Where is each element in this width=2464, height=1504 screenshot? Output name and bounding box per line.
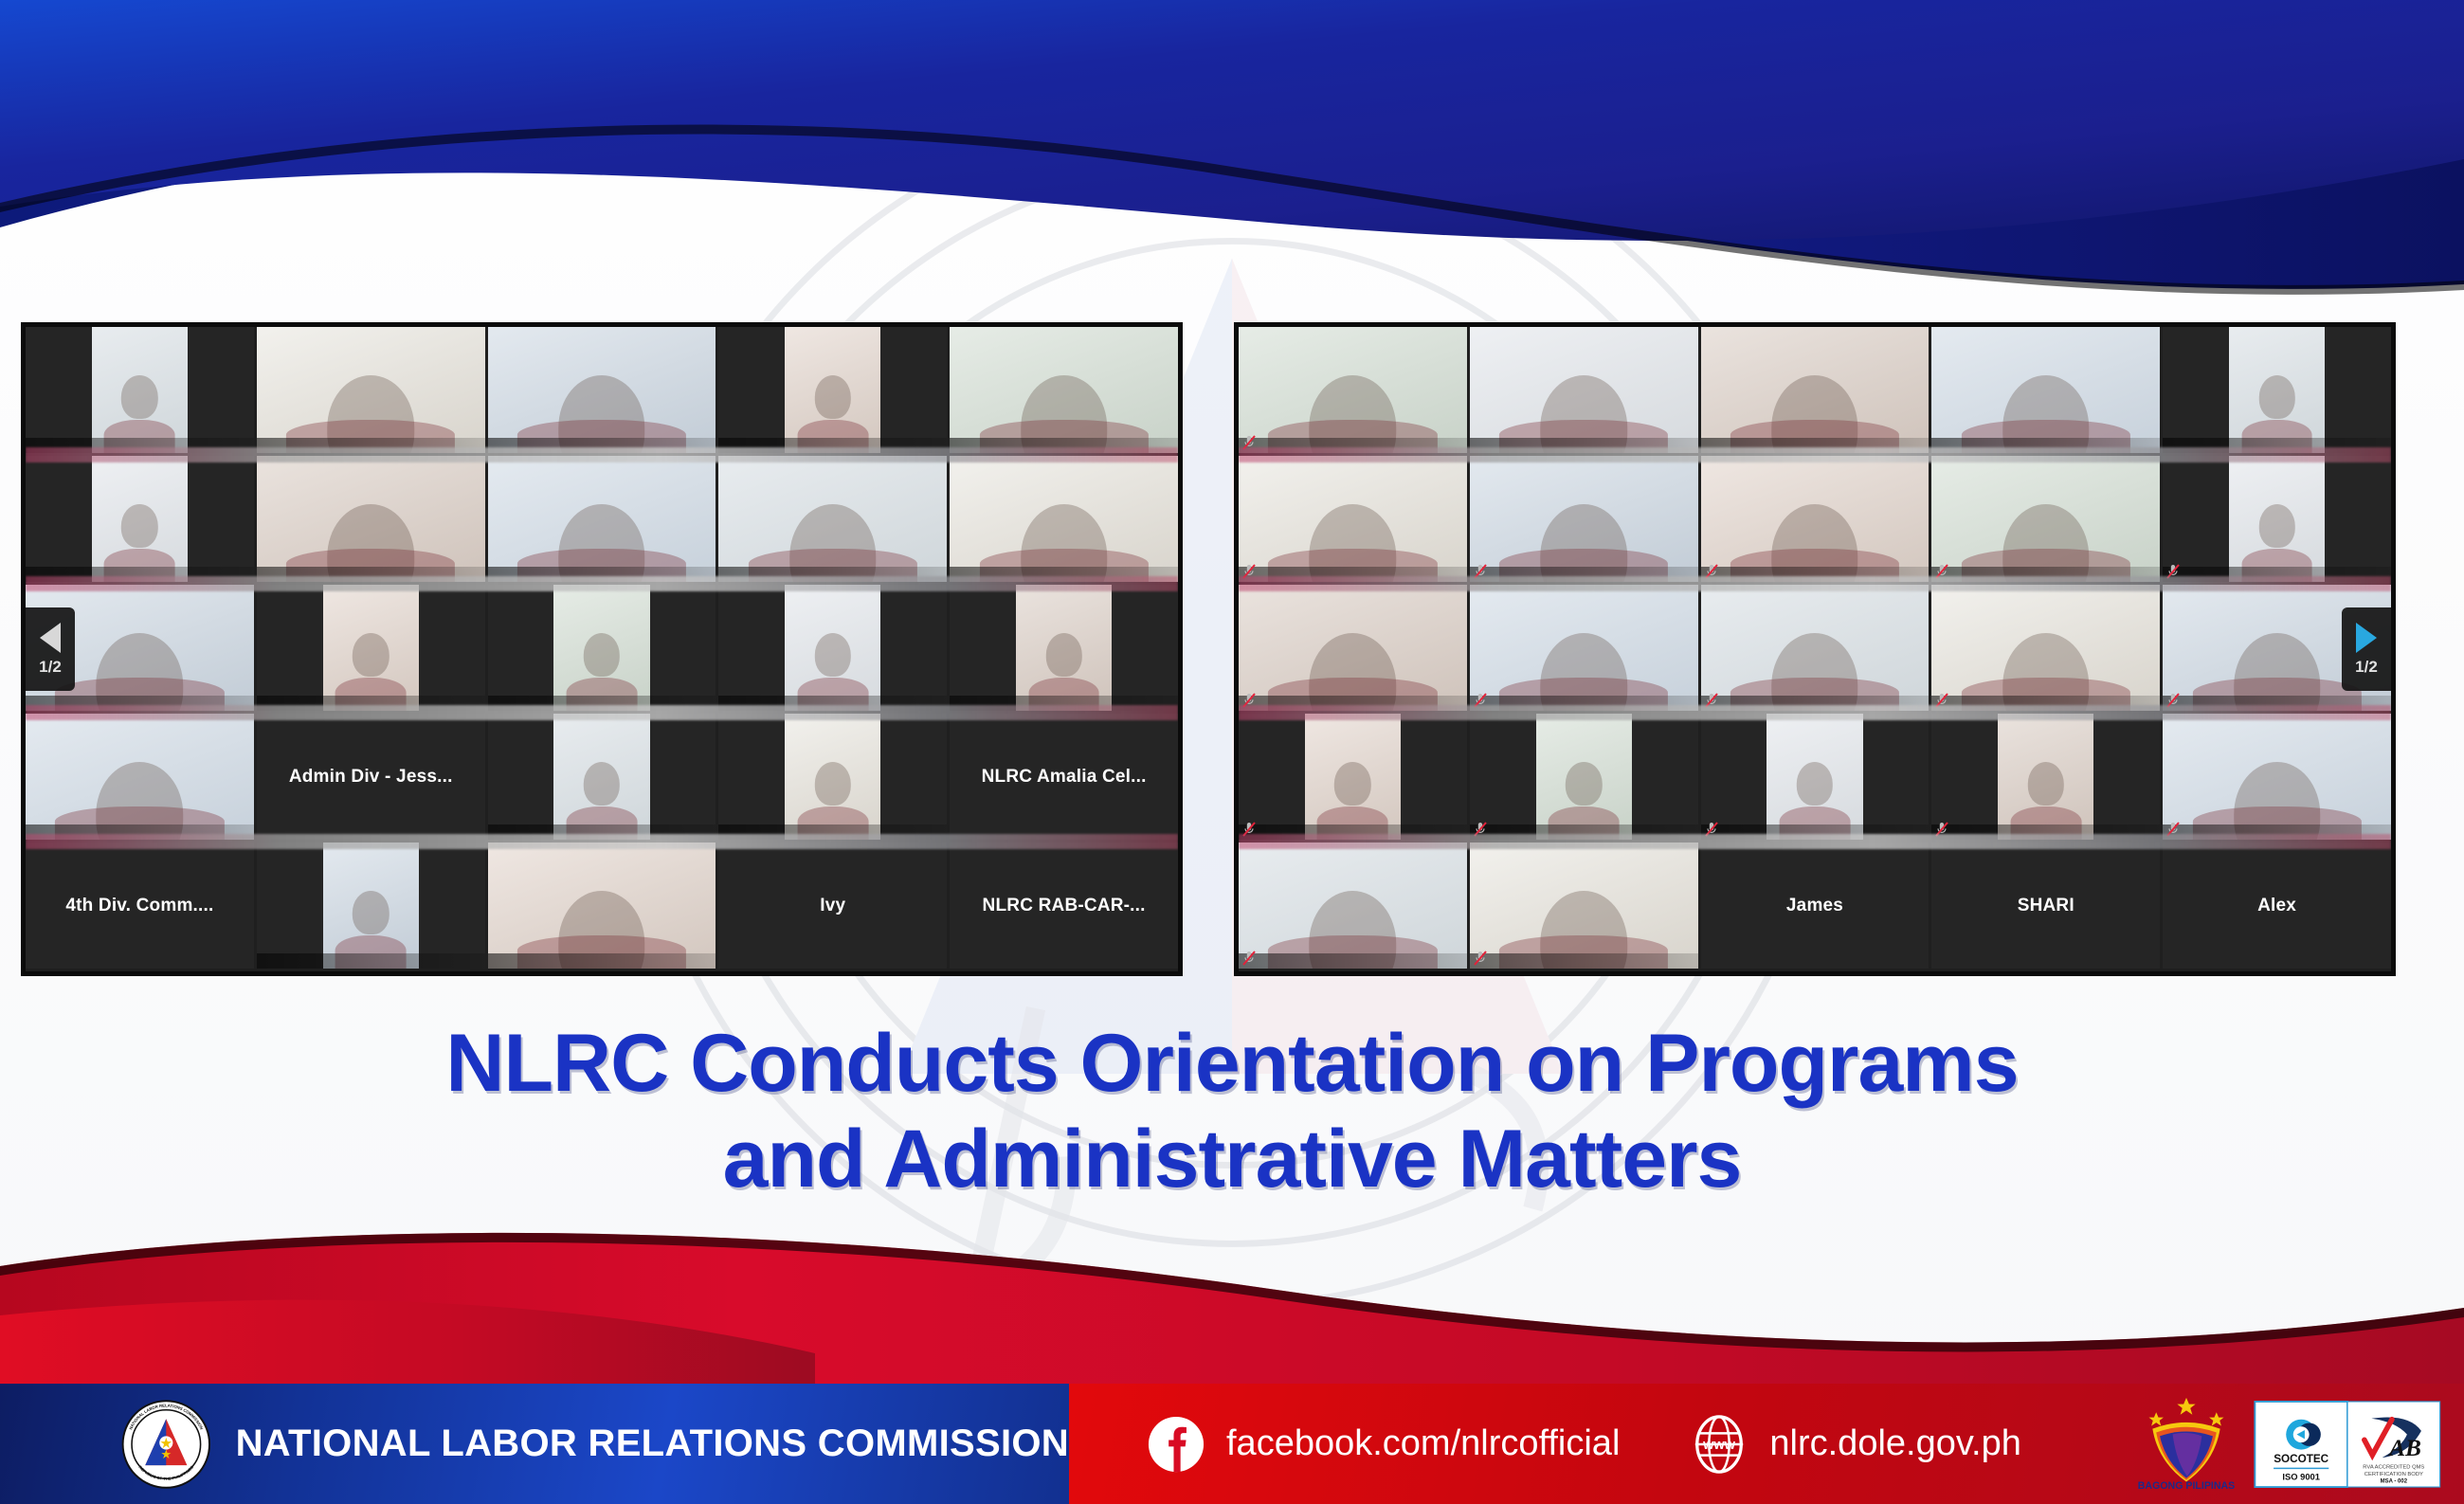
participant-video — [1016, 585, 1112, 711]
tile-name-bar — [488, 438, 716, 453]
participant-video — [1766, 714, 1862, 840]
tile-name-bar — [718, 438, 947, 453]
participant-video — [1305, 714, 1401, 840]
participant-tile[interactable] — [1470, 456, 1698, 582]
participant-tile[interactable] — [26, 327, 254, 453]
participant-video — [553, 714, 649, 840]
participant-tile[interactable] — [1701, 327, 1930, 453]
tile-name-bar — [488, 696, 716, 711]
participant-silhouette — [1045, 633, 1081, 678]
certification-logos: SOCOTEC ISO 9001 AB RVA ACCREDITED QMS C… — [2254, 1401, 2441, 1488]
participant-tile[interactable] — [257, 843, 485, 969]
participant-video — [488, 327, 716, 453]
gallery-row: JamesSHARIAlex — [1239, 843, 2391, 971]
participant-tile[interactable] — [1470, 327, 1698, 453]
page-title-line-1: NLRC Conducts Orientation on Programs — [445, 1018, 2018, 1109]
participant-silhouette — [353, 891, 389, 935]
bagong-pilipinas-icon: BAGONG PILIPINAS — [2136, 1394, 2237, 1495]
svg-text:ISO 9001: ISO 9001 — [2282, 1472, 2320, 1481]
participant-silhouette — [121, 504, 157, 549]
participant-name: NLRC RAB-CAR-... — [950, 896, 1178, 916]
participant-silhouette — [1797, 762, 1833, 806]
participant-video — [950, 456, 1178, 582]
participant-tile[interactable]: James — [1701, 843, 1930, 969]
participant-name: SHARI — [1931, 896, 2160, 916]
participant-tile[interactable] — [1239, 714, 1467, 840]
participant-name: NLRC Amalia Cel... — [950, 767, 1178, 788]
participant-tile[interactable] — [257, 585, 485, 711]
mic-muted-icon — [1474, 951, 1487, 966]
tile-name-bar — [2163, 696, 2391, 711]
tile-name-bar — [2163, 824, 2391, 840]
participant-tile[interactable] — [1701, 585, 1930, 711]
facebook-icon — [1147, 1415, 1205, 1474]
participant-video — [26, 714, 254, 840]
tile-name-bar — [1239, 567, 1467, 582]
mic-muted-icon — [1474, 822, 1487, 837]
tile-name-bar — [1931, 438, 2160, 453]
participant-tile[interactable] — [488, 327, 716, 453]
gallery-row — [26, 585, 1178, 714]
mic-muted-icon — [1242, 822, 1256, 837]
participant-tile[interactable] — [1239, 843, 1467, 969]
participant-video — [1470, 456, 1698, 582]
participant-video — [1701, 585, 1930, 711]
participant-video — [257, 327, 485, 453]
gallery-prev-page-button[interactable]: 1/2 — [26, 607, 75, 691]
participant-tile[interactable]: NLRC Amalia Cel... — [950, 714, 1178, 840]
participant-video — [1536, 714, 1632, 840]
participant-silhouette — [815, 375, 851, 420]
participant-tile[interactable] — [488, 585, 716, 711]
tile-name-bar — [718, 824, 947, 840]
tile-name-bar — [1701, 824, 1930, 840]
tile-name-bar — [26, 438, 254, 453]
participant-silhouette — [121, 375, 157, 420]
mic-muted-icon — [2166, 822, 2180, 837]
participant-video — [785, 585, 880, 711]
tile-name-bar — [718, 567, 947, 582]
tile-name-bar — [26, 696, 254, 711]
participant-tile[interactable] — [488, 714, 716, 840]
participant-tile[interactable]: Alex — [2163, 843, 2391, 969]
participant-video — [488, 456, 716, 582]
tile-name-bar — [1470, 953, 1698, 969]
participant-video — [488, 843, 716, 969]
tile-name-bar — [1239, 953, 1467, 969]
participant-tile[interactable] — [950, 585, 1178, 711]
mic-muted-icon — [1242, 951, 1256, 966]
tile-name-bar — [257, 438, 485, 453]
participant-tile[interactable] — [1701, 714, 1930, 840]
page-indicator-right: 1/2 — [2355, 658, 2378, 677]
gallery-next-page-button[interactable]: 1/2 — [2342, 607, 2391, 691]
participant-tile[interactable]: 4th Div. Comm.... — [26, 843, 254, 969]
participant-tile[interactable] — [488, 456, 716, 582]
participant-tile[interactable] — [718, 327, 947, 453]
tile-name-bar — [1931, 824, 2160, 840]
top-blue-swoosh — [0, 0, 2464, 313]
tile-name-bar — [488, 567, 716, 582]
website-url: nlrc.dole.gov.ph — [1769, 1423, 2020, 1464]
participant-silhouette — [2258, 375, 2294, 420]
participant-video — [1239, 843, 1467, 969]
footer-left-section: NATIONAL LABOR RELATIONS COMMISSION REPU… — [0, 1384, 1069, 1504]
tile-name-bar — [1701, 438, 1930, 453]
tile-name-bar — [950, 567, 1178, 582]
participant-tile[interactable] — [1239, 585, 1467, 711]
tile-name-bar — [718, 696, 947, 711]
participant-video — [1998, 714, 2093, 840]
page-indicator-left: 1/2 — [39, 658, 62, 677]
facebook-link[interactable]: facebook.com/nlrcofficial — [1147, 1415, 1620, 1474]
participant-name: 4th Div. Comm.... — [26, 896, 254, 916]
participant-silhouette — [815, 762, 851, 806]
website-link[interactable]: www nlrc.dole.gov.ph — [1690, 1415, 2020, 1474]
participant-tile[interactable] — [2163, 456, 2391, 582]
mic-muted-icon — [1242, 435, 1256, 450]
page-title-line-2: and Administrative Matters — [0, 1112, 2464, 1207]
footer: NATIONAL LABOR RELATIONS COMMISSION REPU… — [0, 1384, 2464, 1504]
bagong-pilipinas-label: BAGONG PILIPINAS — [2138, 1480, 2235, 1492]
poster-canvas: 1/2 Admin Div - Jess...NLRC Amalia Cel..… — [0, 0, 2464, 1504]
participant-silhouette — [1334, 762, 1370, 806]
participant-tile[interactable] — [1470, 843, 1698, 969]
participant-video — [323, 585, 419, 711]
chevron-left-icon — [40, 623, 61, 653]
participant-tile[interactable] — [257, 456, 485, 582]
participant-video — [1931, 327, 2160, 453]
chevron-right-icon — [2356, 623, 2377, 653]
svg-text:CERTIFICATION BODY: CERTIFICATION BODY — [2364, 1471, 2423, 1477]
gallery-row — [1239, 456, 2391, 585]
tile-name-bar — [1470, 567, 1698, 582]
participant-video — [92, 456, 188, 582]
participant-video — [950, 327, 1178, 453]
participant-tile[interactable]: NLRC RAB-CAR-... — [950, 843, 1178, 969]
participant-video — [718, 456, 947, 582]
participant-tile[interactable] — [718, 585, 947, 711]
mic-muted-icon — [1935, 822, 1948, 837]
mic-muted-icon — [2166, 564, 2180, 579]
tile-name-bar — [950, 438, 1178, 453]
participant-silhouette — [584, 633, 620, 678]
footer-right-section: facebook.com/nlrcofficial www nlrc.dole.… — [1069, 1384, 2464, 1504]
participant-video — [92, 327, 188, 453]
mic-muted-icon — [1935, 693, 1948, 708]
participant-silhouette — [815, 633, 851, 678]
tile-name-bar — [1931, 567, 2160, 582]
participant-tile[interactable]: Admin Div - Jess... — [257, 714, 485, 840]
participant-video — [1239, 456, 1467, 582]
participant-video — [257, 456, 485, 582]
participant-tile[interactable] — [1701, 456, 1930, 582]
participant-silhouette — [2258, 504, 2294, 549]
participant-video — [1239, 585, 1467, 711]
tile-name-bar — [2163, 567, 2391, 582]
zoom-panel-right[interactable]: 1/2 JamesSHARIAlex — [1234, 322, 2396, 976]
tile-name-bar — [488, 953, 716, 969]
gallery-row — [26, 456, 1178, 585]
tile-name-bar — [257, 953, 485, 969]
svg-text:www: www — [1702, 1437, 1736, 1452]
mic-muted-icon — [1935, 564, 1948, 579]
participant-tile[interactable] — [2163, 327, 2391, 453]
tile-name-bar — [1931, 696, 2160, 711]
participant-tile[interactable] — [26, 714, 254, 840]
gallery-row — [1239, 327, 2391, 456]
participant-tile[interactable] — [718, 714, 947, 840]
gallery-row — [1239, 714, 2391, 843]
tile-name-bar — [1470, 824, 1698, 840]
facebook-url: facebook.com/nlrcofficial — [1226, 1423, 1620, 1464]
svg-text:SOCOTEC: SOCOTEC — [2274, 1452, 2328, 1464]
participant-tile[interactable] — [1470, 585, 1698, 711]
participant-tile[interactable] — [1239, 456, 1467, 582]
zoom-gallery: 1/2 Admin Div - Jess...NLRC Amalia Cel..… — [21, 322, 2415, 976]
zoom-panel-left[interactable]: 1/2 Admin Div - Jess...NLRC Amalia Cel..… — [21, 322, 1183, 976]
participant-tile[interactable] — [950, 327, 1178, 453]
participant-tile[interactable] — [1931, 714, 2160, 840]
participant-video — [1470, 327, 1698, 453]
mic-muted-icon — [1474, 693, 1487, 708]
participant-name: Admin Div - Jess... — [257, 767, 485, 788]
participant-tile[interactable] — [257, 327, 485, 453]
tile-name-bar — [1239, 438, 1467, 453]
tile-name-bar — [257, 696, 485, 711]
mic-muted-icon — [1242, 564, 1256, 579]
participant-video — [1239, 327, 1467, 453]
tile-name-bar — [1701, 696, 1930, 711]
gallery-row — [1239, 585, 2391, 714]
participant-tile[interactable]: SHARI — [1931, 843, 2160, 969]
participant-video — [1470, 843, 1698, 969]
gallery-row: Admin Div - Jess...NLRC Amalia Cel... — [26, 714, 1178, 843]
participant-video — [2229, 456, 2325, 582]
tile-name-bar — [1470, 696, 1698, 711]
participant-video — [785, 714, 880, 840]
participant-tile[interactable] — [26, 456, 254, 582]
mic-muted-icon — [1705, 822, 1718, 837]
participant-tile[interactable] — [1470, 714, 1698, 840]
participant-tile[interactable] — [2163, 714, 2391, 840]
participant-tile[interactable] — [718, 456, 947, 582]
tile-name-bar — [1239, 696, 1467, 711]
participant-silhouette — [2028, 762, 2064, 806]
participant-silhouette — [584, 762, 620, 806]
participant-tile[interactable] — [1931, 327, 2160, 453]
participant-video — [785, 327, 880, 453]
participant-name: Ivy — [718, 896, 947, 916]
tile-name-bar — [26, 824, 254, 840]
page-title: NLRC Conducts Orientation on Programs an… — [0, 1016, 2464, 1208]
tile-name-bar — [1470, 438, 1698, 453]
tile-name-bar — [2163, 438, 2391, 453]
svg-text:MSA - 002: MSA - 002 — [2381, 1478, 2408, 1484]
participant-tile[interactable] — [488, 843, 716, 969]
participant-tile[interactable] — [950, 456, 1178, 582]
participant-video — [323, 843, 419, 969]
participant-tile[interactable] — [1931, 456, 2160, 582]
participant-silhouette — [1566, 762, 1602, 806]
participant-video — [2163, 714, 2391, 840]
participant-video — [2229, 327, 2325, 453]
gallery-row — [26, 327, 1178, 456]
participant-silhouette — [353, 633, 389, 678]
mic-muted-icon — [1474, 564, 1487, 579]
footer-logos: BAGONG PILIPINAS SOCOTEC ISO 9001 — [2136, 1394, 2464, 1495]
mic-muted-icon — [1705, 693, 1718, 708]
organization-name: NATIONAL LABOR RELATIONS COMMISSION — [236, 1422, 1069, 1465]
tile-name-bar — [950, 696, 1178, 711]
nlrc-seal-icon: NATIONAL LABOR RELATIONS COMMISSION REPU… — [121, 1399, 211, 1490]
mic-muted-icon — [1242, 693, 1256, 708]
participant-tile[interactable] — [1239, 327, 1467, 453]
participant-video — [1931, 456, 2160, 582]
participant-video — [1701, 456, 1930, 582]
gallery-row: 4th Div. Comm....IvyNLRC RAB-CAR-... — [26, 843, 1178, 971]
mic-muted-icon — [1705, 564, 1718, 579]
participant-tile[interactable]: Ivy — [718, 843, 947, 969]
participant-video — [553, 585, 649, 711]
globe-www-icon: www — [1690, 1415, 1748, 1474]
participant-tile[interactable] — [1931, 585, 2160, 711]
tile-name-bar — [1701, 567, 1930, 582]
participant-video — [1470, 585, 1698, 711]
tile-name-bar — [1239, 824, 1467, 840]
participant-video — [1931, 585, 2160, 711]
mic-muted-icon — [2166, 693, 2180, 708]
participant-name: James — [1701, 896, 1930, 916]
participant-video — [1701, 327, 1930, 453]
tile-name-bar — [26, 567, 254, 582]
participant-name: Alex — [2163, 896, 2391, 916]
tile-name-bar — [488, 824, 716, 840]
svg-text:AB: AB — [2387, 1435, 2421, 1461]
tile-name-bar — [257, 567, 485, 582]
svg-text:RVA ACCREDITED QMS: RVA ACCREDITED QMS — [2363, 1464, 2424, 1470]
